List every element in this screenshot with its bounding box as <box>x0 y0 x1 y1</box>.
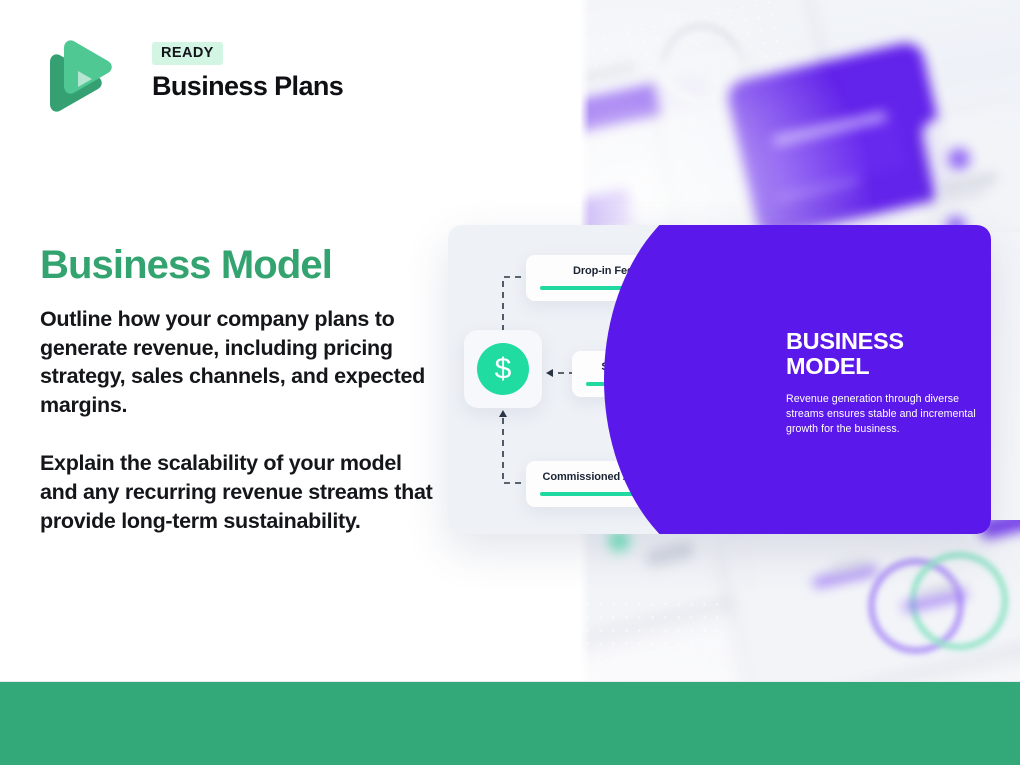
mock-slide-purple <box>725 40 956 232</box>
play-triangle-logo-icon <box>42 40 114 118</box>
mock-dot-pattern-2 <box>580 598 730 668</box>
slide-canvas: READY Business Plans Business Model Outl… <box>0 0 1020 765</box>
brand-name: Business Plans <box>152 72 343 102</box>
mock-dot-purple <box>946 146 972 172</box>
purple-panel-title-line2: MODEL <box>786 353 869 379</box>
mock-purple-bar-a <box>580 73 712 135</box>
mock-text-bar-c <box>938 187 987 205</box>
mock-sub-bar <box>776 177 859 203</box>
mock-heading-bar <box>772 111 887 146</box>
arrowhead-left <box>546 369 553 377</box>
body-copy: Outline how your company plans to genera… <box>40 305 440 535</box>
arrowhead-up <box>499 410 507 417</box>
mock-slide-b <box>650 44 779 232</box>
mock-ring-a <box>652 14 752 114</box>
body-paragraph-2: Explain the scalability of your model an… <box>40 449 440 535</box>
mock-purple-block <box>765 108 907 196</box>
purple-summary-panel: BUSINESS MODEL Revenue generation throug… <box>736 225 991 534</box>
body-paragraph-1: Outline how your company plans to genera… <box>40 305 440 419</box>
footer-bar <box>0 682 1020 765</box>
brand-logo: READY Business Plans <box>40 38 380 124</box>
decor-top-mockups <box>580 0 1020 232</box>
purple-panel-description: Revenue generation through diverse strea… <box>786 392 976 437</box>
dollar-sign-icon: $ <box>477 343 529 395</box>
mock-dot-pattern <box>580 0 818 232</box>
page-title: Business Model <box>40 243 332 287</box>
decor-bottom-mockups <box>580 520 1020 682</box>
brand-text-block: READY Business Plans <box>152 42 343 101</box>
purple-panel-title: BUSINESS MODEL <box>786 329 976 380</box>
mock-slide-a <box>580 0 843 232</box>
mock-text-bar-b <box>940 172 999 194</box>
purple-panel-title-line1: BUSINESS <box>786 328 904 354</box>
svg-text:$: $ <box>495 353 512 386</box>
purple-panel-content: BUSINESS MODEL Revenue generation throug… <box>786 329 976 437</box>
revenue-hub: $ <box>464 330 542 408</box>
business-model-card: $ Drop-in Fees Session Workshops Commiss… <box>448 225 991 534</box>
mock-slide-c <box>920 100 1020 232</box>
ready-badge: READY <box>152 42 223 65</box>
